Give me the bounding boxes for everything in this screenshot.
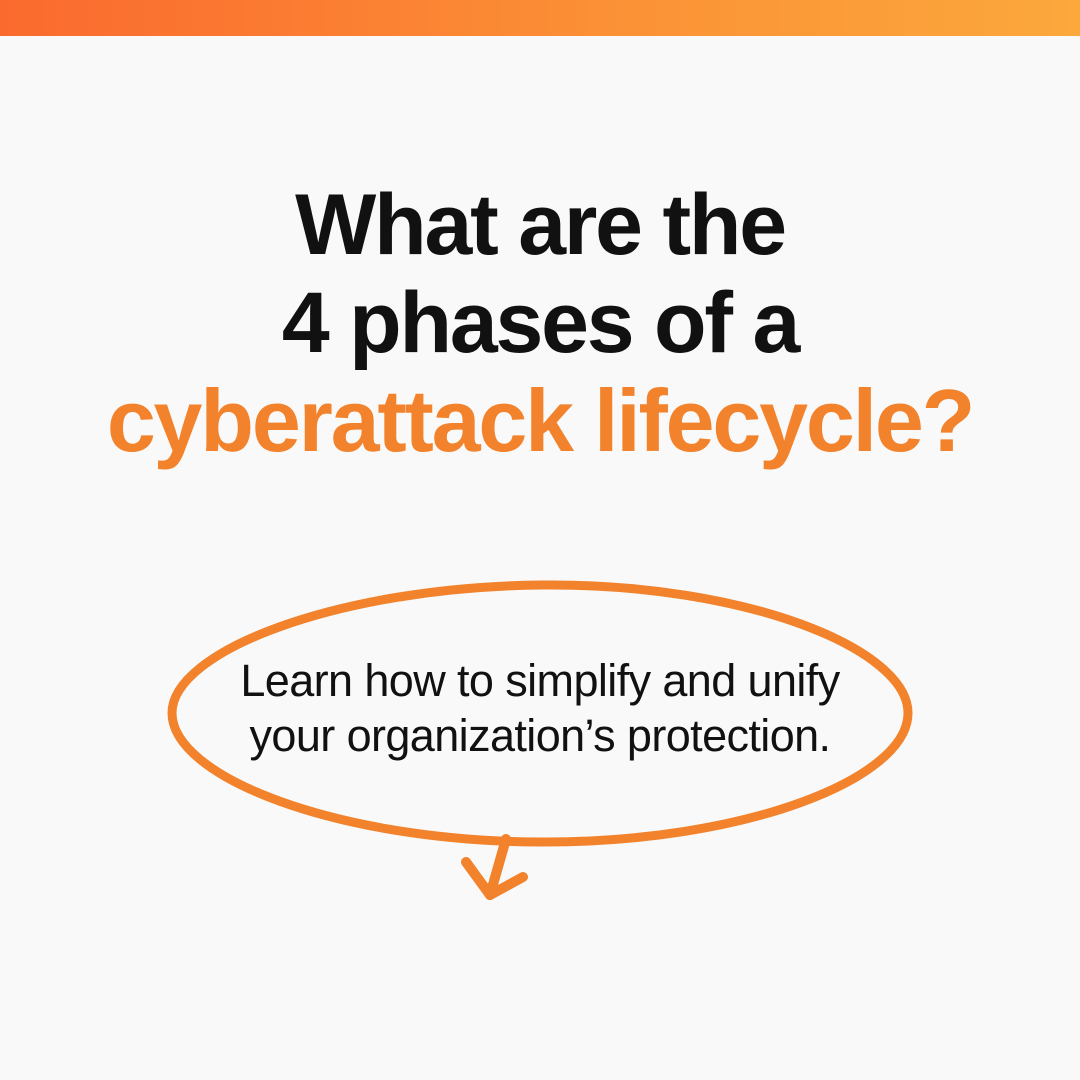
bubble-text-line-2: your organization’s protection. (240, 708, 840, 763)
headline-line-2: 4 phases of a (0, 274, 1080, 372)
promo-card: What are the 4 phases of a cyberattack l… (0, 0, 1080, 1080)
bubble-text-line-1: Learn how to simplify and unify (240, 653, 840, 708)
speech-bubble: Learn how to simplify and unify your org… (150, 565, 930, 925)
speech-bubble-text: Learn how to simplify and unify your org… (240, 653, 840, 763)
page-title: What are the 4 phases of a cyberattack l… (0, 176, 1080, 470)
headline-line-1: What are the (0, 176, 1080, 274)
headline-line-3-accent: cyberattack lifecycle? (0, 372, 1080, 470)
top-gradient-bar (0, 0, 1080, 36)
